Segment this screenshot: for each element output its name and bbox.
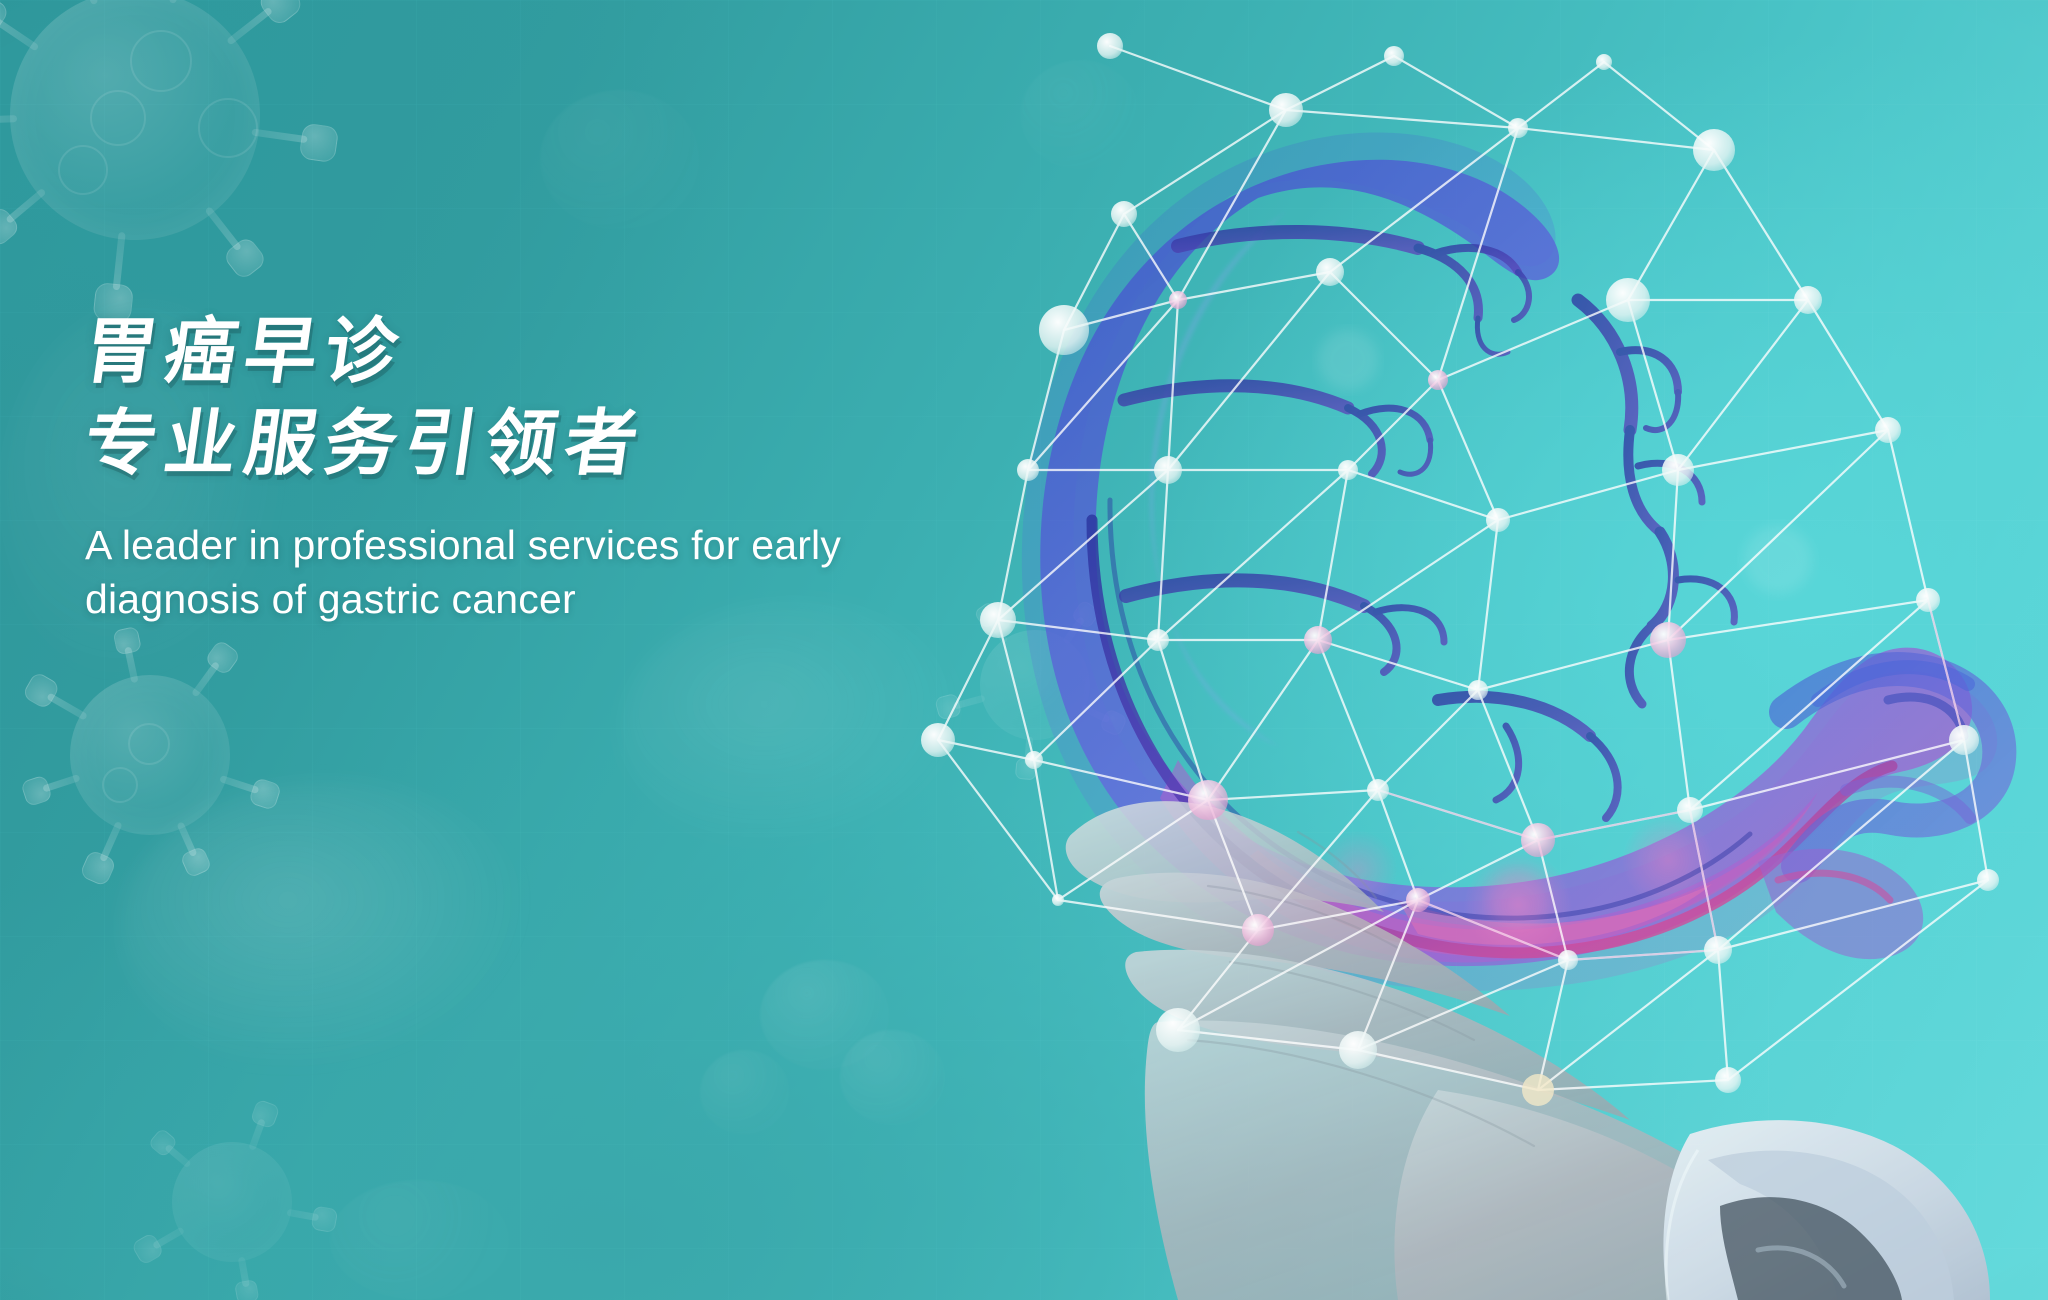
hero-banner: 胃癌早诊 专业服务引领者 A leader in professional se…	[0, 0, 2048, 1300]
virus-particle-icon	[0, 0, 360, 330]
copy-block: 胃癌早诊 专业服务引领者 A leader in professional se…	[85, 316, 985, 626]
cell-blob	[330, 1180, 510, 1300]
subtitle-line-1: A leader in professional services for ea…	[85, 518, 985, 572]
cell-blob	[700, 1050, 790, 1135]
hero-illustration	[878, 0, 2048, 1300]
virus-particle-icon	[10, 615, 310, 915]
headline-line-1: 胃癌早诊	[80, 316, 990, 388]
cell-blob	[540, 90, 700, 230]
virus-particle-icon	[120, 1090, 350, 1300]
subtitle: A leader in professional services for ea…	[85, 518, 985, 626]
cell-blob	[760, 960, 890, 1070]
light-wisp	[120, 780, 540, 1080]
headline-line-2: 专业服务引领者	[80, 408, 990, 480]
subtitle-line-2: diagnosis of gastric cancer	[85, 572, 985, 626]
